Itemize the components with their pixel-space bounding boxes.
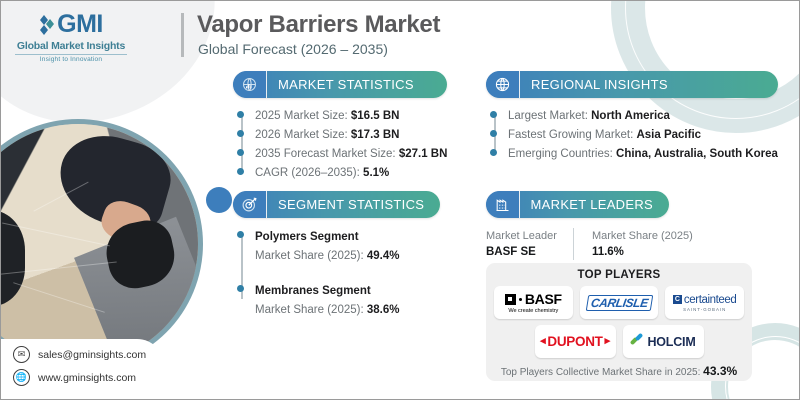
- player-logo-carlisle[interactable]: CARLISLE: [580, 286, 659, 319]
- gmi-logo[interactable]: GMI Global Market Insights Insight to In…: [7, 9, 135, 71]
- decorative-dot: [206, 187, 232, 213]
- logo-wordmark: GMI: [57, 10, 103, 39]
- market-share-value: 11.6%: [592, 244, 693, 260]
- player-name: DUPONT: [547, 334, 602, 349]
- badge-label-regional-insights: REGIONAL INSIGHTS: [520, 71, 684, 98]
- region-value: North America: [591, 110, 670, 122]
- player-name: CARLISLE: [585, 295, 652, 311]
- region-label: Emerging Countries:: [508, 148, 613, 160]
- arrow-left-icon: ◂: [540, 336, 545, 347]
- stat-value: $17.3 BN: [351, 129, 400, 141]
- basf-dot-icon: [519, 298, 522, 301]
- contact-email-row[interactable]: ✉ sales@gminsights.com: [13, 346, 164, 363]
- badge-label-segment-statistics: SEGMENT STATISTICS: [267, 191, 440, 218]
- list-item: Membranes Segment Market Share (2025): 3…: [255, 281, 440, 319]
- region-label: Fastest Growing Market:: [508, 129, 633, 141]
- list-item: Polymers Segment Market Share (2025): 49…: [255, 227, 440, 265]
- market-share-caption: Market Share (2025): [592, 228, 693, 244]
- top-players-row-2: ◂ DUPONT ▸ HOLCIM: [494, 325, 744, 358]
- list-item: Emerging Countries: China, Australia, So…: [508, 145, 778, 164]
- segment-share-label: Market Share (2025):: [255, 250, 364, 262]
- certainteed-mark-icon: C: [673, 295, 682, 304]
- bullet-dot: [490, 149, 497, 156]
- player-logo-certainteed[interactable]: C certainteed SAINT-GOBAIN: [665, 286, 744, 319]
- photo-image-vapor-barrier-installation: [0, 124, 198, 364]
- target-chart-icon: [233, 191, 267, 218]
- bullet-dot: [237, 231, 244, 238]
- logo-letter-g: GMI: [57, 10, 103, 38]
- top-players-footer: Top Players Collective Market Share in 2…: [494, 364, 744, 378]
- section-market-statistics: MARKET STATISTICS 2025 Market Size: $16.…: [233, 71, 447, 183]
- bullet-dot: [237, 111, 244, 118]
- segment-statistics-list: Polymers Segment Market Share (2025): 49…: [233, 227, 440, 319]
- logo-rule: [15, 54, 127, 55]
- section-segment-statistics: SEGMENT STATISTICS Polymers Segment Mark…: [233, 191, 440, 319]
- arrow-right-icon: ▸: [605, 336, 610, 347]
- region-value: Asia Pacific: [636, 129, 701, 141]
- list-item: Largest Market: North America: [508, 107, 778, 126]
- region-label: Largest Market:: [508, 110, 588, 122]
- list-item: CAGR (2026–2035): 5.1%: [255, 164, 447, 183]
- top-players-title: TOP PLAYERS: [494, 269, 744, 281]
- stat-label: 2025 Market Size:: [255, 110, 348, 122]
- page-subtitle: Global Forecast (2026 – 2035): [198, 41, 388, 57]
- list-item: 2026 Market Size: $17.3 BN: [255, 126, 447, 145]
- player-name: certainteed: [684, 294, 737, 306]
- section-regional-insights: REGIONAL INSIGHTS Largest Market: North …: [486, 71, 778, 164]
- stat-value: $16.5 BN: [351, 110, 400, 122]
- bullet-dot: [490, 130, 497, 137]
- contact-website-row[interactable]: 🌐 www.gminsights.com: [13, 369, 164, 386]
- top-players-footer-label: Top Players Collective Market Share in 2…: [501, 367, 701, 378]
- market-statistics-list: 2025 Market Size: $16.5 BN 2026 Market S…: [233, 107, 447, 183]
- player-tagline: We create chemistry: [508, 308, 558, 314]
- player-logo-holcim[interactable]: HOLCIM: [623, 325, 704, 358]
- regional-insights-list: Largest Market: North America Fastest Gr…: [486, 107, 778, 164]
- infographic-canvas: GMI Global Market Insights Insight to In…: [0, 0, 800, 400]
- stat-value: $27.1 BN: [399, 148, 448, 160]
- bullet-dot: [237, 149, 244, 156]
- logo-tagline: Insight to Innovation: [7, 56, 135, 63]
- list-item: 2035 Forecast Market Size: $27.1 BN: [255, 145, 447, 164]
- globe-icon: 🌐: [13, 369, 30, 386]
- segment-share-value: 49.4%: [367, 250, 400, 262]
- market-leader-caption: Market Leader: [486, 228, 557, 244]
- badge-market-statistics: MARKET STATISTICS: [233, 71, 447, 98]
- badge-regional-insights: REGIONAL INSIGHTS: [486, 71, 778, 98]
- contact-website: www.gminsights.com: [38, 372, 136, 384]
- globe-chart-icon: [233, 71, 267, 98]
- market-share-cell: Market Share (2025) 11.6%: [573, 228, 709, 260]
- contact-panel: ✉ sales@gminsights.com 🌐 www.gminsights.…: [1, 339, 164, 393]
- contact-email: sales@gminsights.com: [38, 349, 146, 361]
- badge-segment-statistics: SEGMENT STATISTICS: [233, 191, 440, 218]
- segment-share-label: Market Share (2025):: [255, 304, 364, 316]
- diamond-logo-icon: [39, 13, 55, 35]
- page-title: Vapor Barriers Market: [197, 11, 440, 39]
- player-logo-basf[interactable]: BASF We create chemistry: [494, 286, 573, 319]
- bullet-dot: [237, 130, 244, 137]
- top-players-row-1: BASF We create chemistry CARLISLE C cert…: [494, 286, 744, 319]
- bullet-dot: [490, 111, 497, 118]
- bullet-dot: [237, 168, 244, 175]
- envelope-icon: ✉: [13, 346, 30, 363]
- bullet-dot: [237, 285, 244, 292]
- segment-name: Membranes Segment: [255, 285, 371, 297]
- stat-label: 2026 Market Size:: [255, 129, 348, 141]
- basf-square-icon: [505, 294, 516, 305]
- stat-label: 2035 Forecast Market Size:: [255, 148, 396, 160]
- holcim-mark-icon: [630, 335, 643, 348]
- market-leader-cell: Market Leader BASF SE: [486, 228, 573, 260]
- factory-chart-icon: [486, 191, 520, 218]
- globe-icon: [486, 71, 520, 98]
- badge-label-market-leaders: MARKET LEADERS: [520, 191, 669, 218]
- top-players-panel: TOP PLAYERS BASF We create chemistry CAR…: [486, 263, 752, 381]
- list-item: 2025 Market Size: $16.5 BN: [255, 107, 447, 126]
- badge-market-leaders: MARKET LEADERS: [486, 191, 669, 218]
- player-logo-dupont[interactable]: ◂ DUPONT ▸: [535, 325, 616, 358]
- segment-share-value: 38.6%: [367, 304, 400, 316]
- player-tagline: SAINT-GOBAIN: [683, 307, 726, 312]
- segment-name: Polymers Segment: [255, 231, 359, 243]
- top-players-footer-value: 43.3%: [703, 364, 737, 378]
- market-leader-value: BASF SE: [486, 244, 557, 260]
- region-value: China, Australia, South Korea: [616, 148, 778, 160]
- section-market-leaders: MARKET LEADERS Market Leader BASF SE Mar…: [486, 191, 709, 260]
- stat-label: CAGR (2026–2035):: [255, 167, 360, 179]
- badge-label-market-statistics: MARKET STATISTICS: [267, 71, 430, 98]
- stat-value: 5.1%: [363, 167, 389, 179]
- hero-photo: [0, 119, 203, 369]
- player-name: BASF: [525, 291, 562, 307]
- player-name: HOLCIM: [647, 335, 695, 349]
- market-leaders-table: Market Leader BASF SE Market Share (2025…: [486, 228, 709, 260]
- header-divider-rule: [181, 13, 184, 57]
- list-item: Fastest Growing Market: Asia Pacific: [508, 126, 778, 145]
- logo-subtitle: Global Market Insights: [7, 40, 135, 52]
